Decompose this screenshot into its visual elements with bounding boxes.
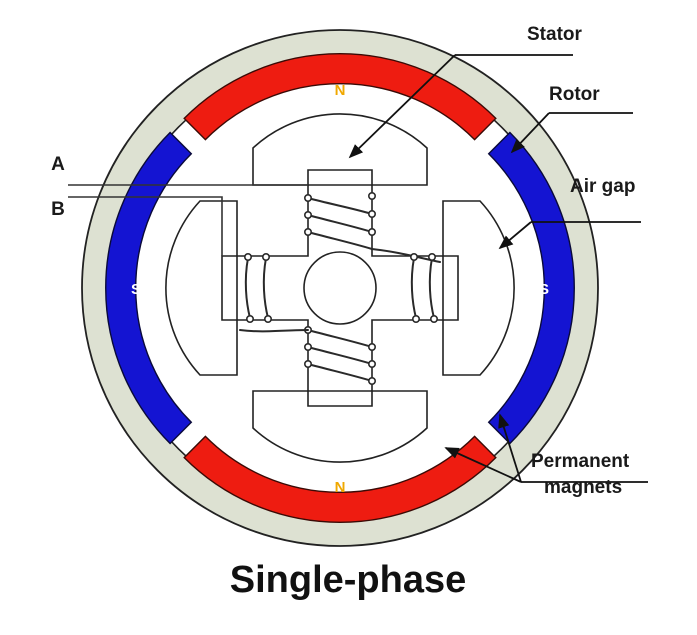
magnet-label-north-top: N bbox=[335, 82, 346, 99]
magnet-label-south-right: S bbox=[539, 281, 549, 298]
figure-title: Single-phase bbox=[230, 559, 467, 601]
motor-cross-section-diagram: N N S S bbox=[0, 0, 697, 635]
callout-label-magnets: magnets bbox=[544, 477, 622, 498]
magnet-label-south-left: S bbox=[131, 281, 141, 298]
magnet-label-north-bottom: N bbox=[335, 479, 346, 496]
callout-label-permanent: Permanent bbox=[531, 451, 630, 472]
air-gap bbox=[152, 100, 528, 476]
callout-label-air-gap: Air gap bbox=[570, 176, 635, 197]
terminal-label-b: B bbox=[51, 199, 65, 220]
terminal-label-a: A bbox=[51, 154, 65, 175]
callout-label-rotor: Rotor bbox=[549, 84, 600, 105]
callout-label-stator: Stator bbox=[527, 24, 583, 45]
